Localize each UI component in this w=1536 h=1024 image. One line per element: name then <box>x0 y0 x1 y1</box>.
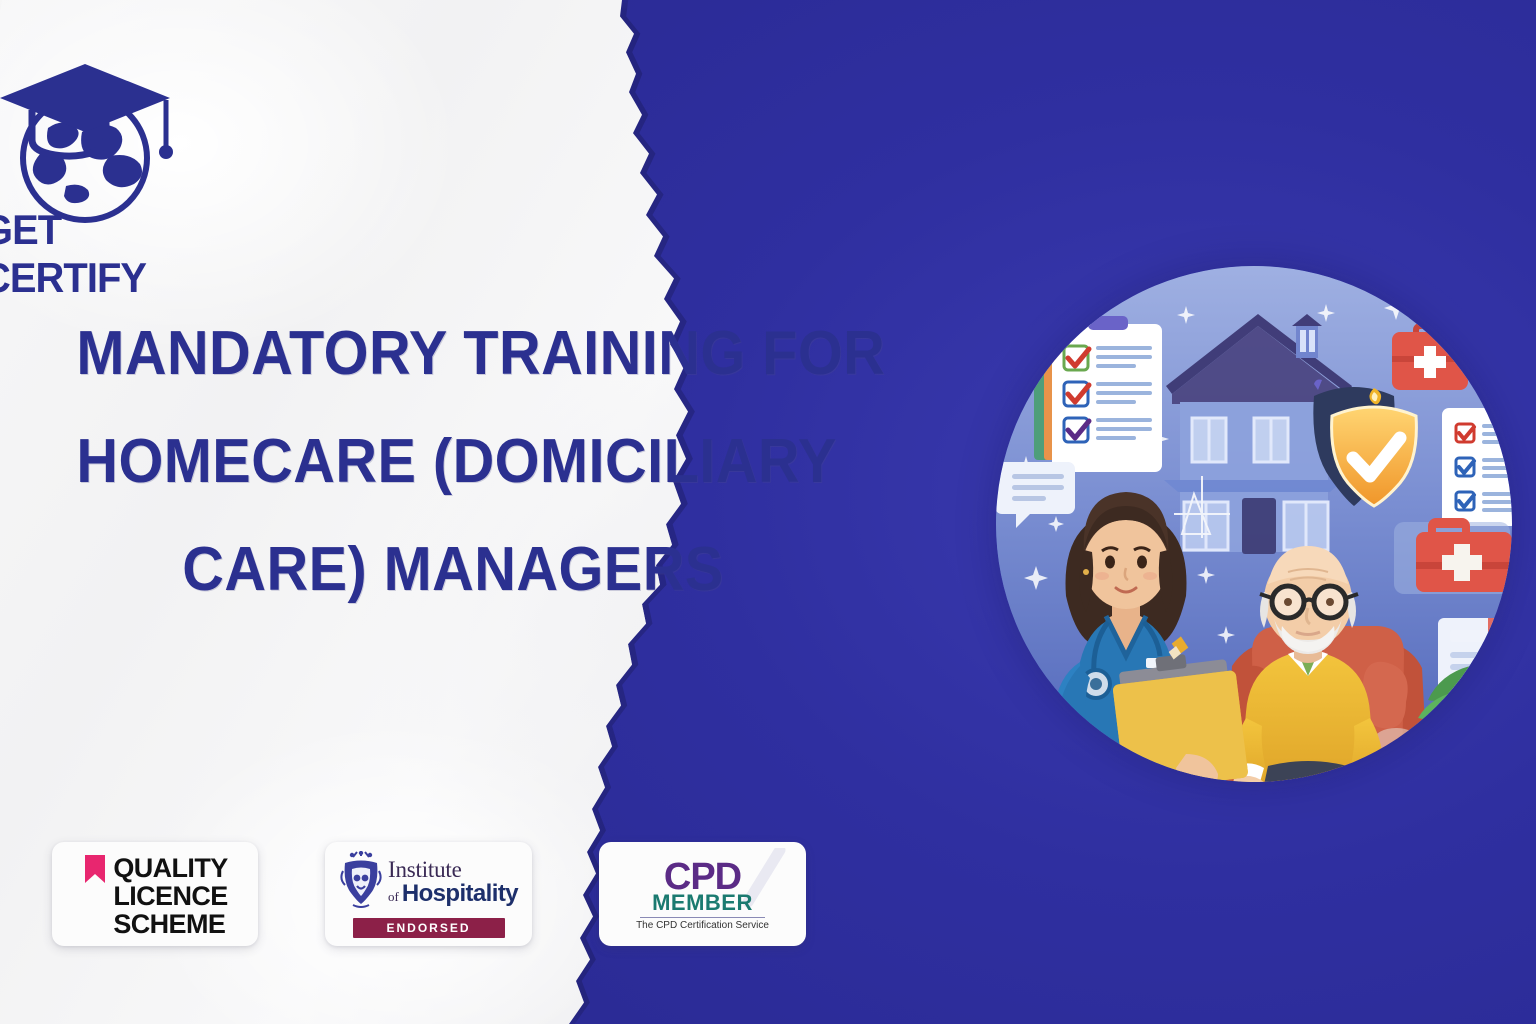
title-line-1: MANDATORY TRAINING FOR <box>76 300 829 408</box>
ioh-institute-text: Institute <box>388 858 518 881</box>
poster-canvas: GET CERTIFY MANDATORY TRAINING FOR HOMEC… <box>0 0 1536 1024</box>
cpd-subtitle: The CPD Certification Service <box>636 920 769 931</box>
cpd-divider <box>640 917 765 918</box>
cpd-member-text: MEMBER <box>652 892 753 914</box>
badge-cpd-member[interactable]: CPD MEMBER The CPD Certification Service <box>599 842 806 946</box>
bookmark-icon <box>84 854 106 884</box>
crest-shield-icon <box>339 851 383 913</box>
qls-line-3: SCHEME <box>113 910 227 938</box>
logo-wordmark: GET CERTIFY <box>0 206 189 302</box>
homecare-illustration <box>996 266 1512 782</box>
ioh-endorsed-banner: ENDORSED <box>353 918 505 938</box>
badge-quality-licence-scheme[interactable]: QUALITY LICENCE SCHEME <box>52 842 258 946</box>
accreditation-badges: QUALITY LICENCE SCHEME <box>52 842 806 946</box>
qls-line-1: QUALITY <box>113 854 227 882</box>
qls-line-2: LICENCE <box>113 882 227 910</box>
page-title: MANDATORY TRAINING FOR HOMECARE (DOMICIL… <box>76 300 829 624</box>
ioh-of-text: of <box>388 890 399 903</box>
ioh-hospitality-text: Hospitality <box>402 882 518 906</box>
illustration-svg <box>996 266 1512 782</box>
badge-institute-of-hospitality[interactable]: Institute of Hospitality ENDORSED <box>325 842 532 946</box>
brand-logo[interactable]: GET CERTIFY <box>0 36 200 236</box>
title-line-2: HOMECARE (DOMICILIARY <box>76 408 829 516</box>
title-line-3: CARE) MANAGERS <box>76 516 829 624</box>
